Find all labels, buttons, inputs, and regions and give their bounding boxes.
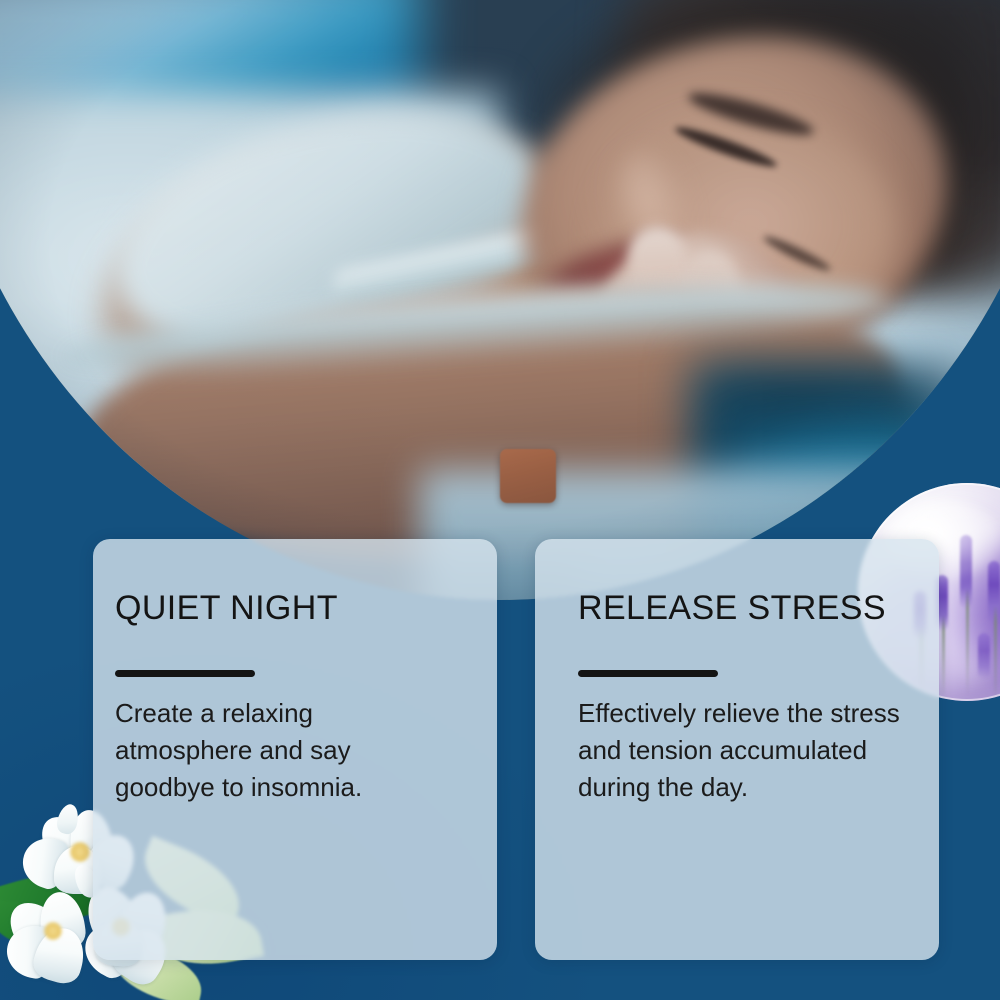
card-content: QUIET NIGHT Create a relaxing atmosphere…: [115, 591, 479, 806]
title-divider: [578, 670, 718, 677]
feature-card-release-stress[interactable]: RELEASE STRESS Effectively relieve the s…: [535, 539, 939, 960]
feature-card-quiet-night[interactable]: QUIET NIGHT Create a relaxing atmosphere…: [93, 539, 497, 960]
card-body-text: Effectively relieve the stress and tensi…: [578, 695, 908, 806]
card-content: RELEASE STRESS Effectively relieve the s…: [578, 591, 921, 806]
title-divider: [115, 670, 255, 677]
card-title: RELEASE STRESS: [578, 591, 921, 627]
flower-center: [44, 922, 62, 940]
flower-center: [70, 842, 90, 862]
card-title: QUIET NIGHT: [115, 591, 479, 627]
card-body-text: Create a relaxing atmosphere and say goo…: [115, 695, 445, 806]
poster-canvas: QUIET NIGHT Create a relaxing atmosphere…: [0, 0, 1000, 1000]
